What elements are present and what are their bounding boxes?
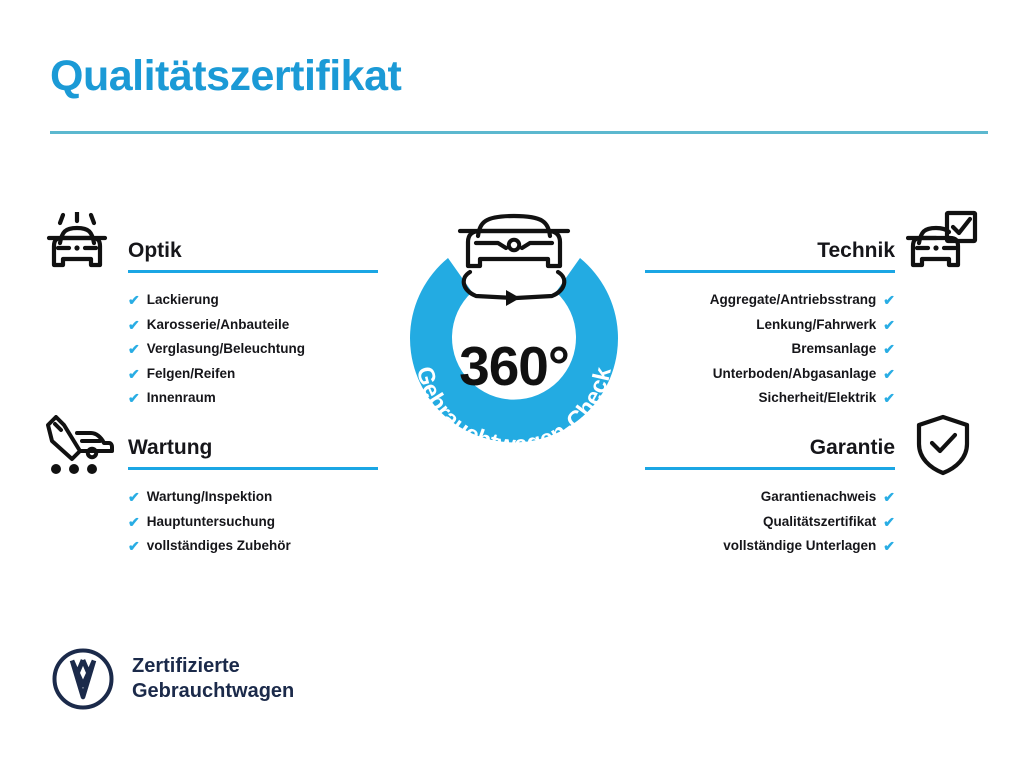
- list-item-label: Lackierung: [147, 288, 219, 313]
- section-header-wartung: Wartung: [128, 435, 378, 471]
- check-icon: ✔: [128, 293, 140, 307]
- check-icon: ✔: [883, 318, 895, 332]
- car-shine-icon: [44, 212, 110, 281]
- section-header-technik: Technik: [645, 238, 895, 274]
- car-checkbox-icon: [906, 210, 978, 281]
- check-icon: ✔: [128, 342, 140, 356]
- list-item-label: Bremsanlage: [791, 337, 876, 362]
- check-icon: ✔: [883, 293, 895, 307]
- check-icon: ✔: [883, 342, 895, 356]
- list-item-label: vollständiges Zubehör: [147, 534, 291, 559]
- vw-lockup-line1: Zertifizierte: [132, 654, 294, 679]
- list-item-label: Garantienachweis: [761, 485, 877, 510]
- check-icon: ✔: [883, 539, 895, 553]
- check-icon: ✔: [128, 367, 140, 381]
- list-item: ✔Innenraum: [128, 386, 378, 411]
- section-title-garantie: Garantie: [645, 435, 895, 461]
- vw-lockup-line2: Gebrauchtwagen: [132, 679, 294, 704]
- list-item-label: Sicherheit/Elektrik: [758, 386, 876, 411]
- list-item: ✔Felgen/Reifen: [128, 362, 378, 387]
- section-wartung: Wartung ✔Wartung/Inspektion ✔Hauptunters…: [128, 435, 378, 559]
- list-item: Unterboden/Abgasanlage✔: [645, 362, 895, 387]
- list-item-label: Felgen/Reifen: [147, 362, 236, 387]
- list-item-label: Karosserie/Anbauteile: [147, 313, 290, 338]
- check-icon: ✔: [128, 490, 140, 504]
- list-item-label: Aggregate/Antriebsstrang: [710, 288, 877, 313]
- list-item: ✔Lackierung: [128, 288, 378, 313]
- section-garantie: Garantie Garantienachweis✔ Qualitätszert…: [645, 435, 895, 559]
- check-icon: ✔: [128, 391, 140, 405]
- list-item-label: Lenkung/Fahrwerk: [756, 313, 876, 338]
- section-header-garantie: Garantie: [645, 435, 895, 471]
- list-item: Bremsanlage✔: [645, 337, 895, 362]
- quality-certificate-page: Qualitätszertifikat: [0, 0, 1024, 768]
- header-divider: [50, 131, 988, 134]
- list-item: Aggregate/Antriebsstrang✔: [645, 288, 895, 313]
- list-item: ✔vollständiges Zubehör: [128, 534, 378, 559]
- check-icon: ✔: [883, 367, 895, 381]
- list-item: Sicherheit/Elektrik✔: [645, 386, 895, 411]
- shield-check-icon: [914, 414, 972, 481]
- page-title: Qualitätszertifikat: [50, 52, 401, 101]
- gebrauchtwagen-check-badge: Gebrauchtwagen-Check 360°: [372, 196, 656, 480]
- list-item: ✔Hauptuntersuchung: [128, 510, 378, 535]
- list-item: Garantienachweis✔: [645, 485, 895, 510]
- list-item: Lenkung/Fahrwerk✔: [645, 313, 895, 338]
- section-underline: [128, 270, 378, 273]
- list-item-label: Unterboden/Abgasanlage: [713, 362, 877, 387]
- check-icon: ✔: [883, 515, 895, 529]
- check-icon: ✔: [128, 318, 140, 332]
- list-item: ✔Karosserie/Anbauteile: [128, 313, 378, 338]
- check-icon: ✔: [883, 490, 895, 504]
- section-optik: Optik ✔Lackierung ✔Karosserie/Anbauteile…: [128, 238, 378, 411]
- section-header-optik: Optik: [128, 238, 378, 274]
- vw-roundel-logo: [52, 648, 114, 710]
- vw-lockup-text: Zertifizierte Gebrauchtwagen: [132, 654, 294, 704]
- checklist-optik: ✔Lackierung ✔Karosserie/Anbauteile ✔Verg…: [128, 288, 378, 411]
- list-item: vollständige Unterlagen✔: [645, 534, 895, 559]
- checklist-wartung: ✔Wartung/Inspektion ✔Hauptuntersuchung ✔…: [128, 485, 378, 559]
- section-underline: [645, 467, 895, 470]
- list-item-label: Qualitätszertifikat: [763, 510, 876, 535]
- list-item: ✔Wartung/Inspektion: [128, 485, 378, 510]
- list-item-label: Innenraum: [147, 386, 216, 411]
- check-icon: ✔: [128, 539, 140, 553]
- car-rotation-icon: [460, 216, 568, 306]
- checklist-technik: Aggregate/Antriebsstrang✔ Lenkung/Fahrwe…: [645, 288, 895, 411]
- section-underline: [128, 467, 378, 470]
- section-technik: Technik Aggregate/Antriebsstrang✔ Lenkun…: [645, 238, 895, 411]
- section-title-optik: Optik: [128, 238, 378, 264]
- rotation-arrowhead: [506, 290, 520, 306]
- check-icon: ✔: [128, 515, 140, 529]
- wrench-car-icon: [44, 415, 114, 480]
- list-item-label: vollständige Unterlagen: [723, 534, 876, 559]
- vw-lockup: Zertifizierte Gebrauchtwagen: [52, 648, 294, 710]
- list-item: Qualitätszertifikat✔: [645, 510, 895, 535]
- section-underline: [645, 270, 895, 273]
- list-item: ✔Verglasung/Beleuchtung: [128, 337, 378, 362]
- list-item-label: Verglasung/Beleuchtung: [147, 337, 305, 362]
- checklist-garantie: Garantienachweis✔ Qualitätszertifikat✔ v…: [645, 485, 895, 559]
- list-item-label: Hauptuntersuchung: [147, 510, 275, 535]
- section-title-technik: Technik: [645, 238, 895, 264]
- list-item-label: Wartung/Inspektion: [147, 485, 273, 510]
- section-title-wartung: Wartung: [128, 435, 378, 461]
- check-icon: ✔: [883, 391, 895, 405]
